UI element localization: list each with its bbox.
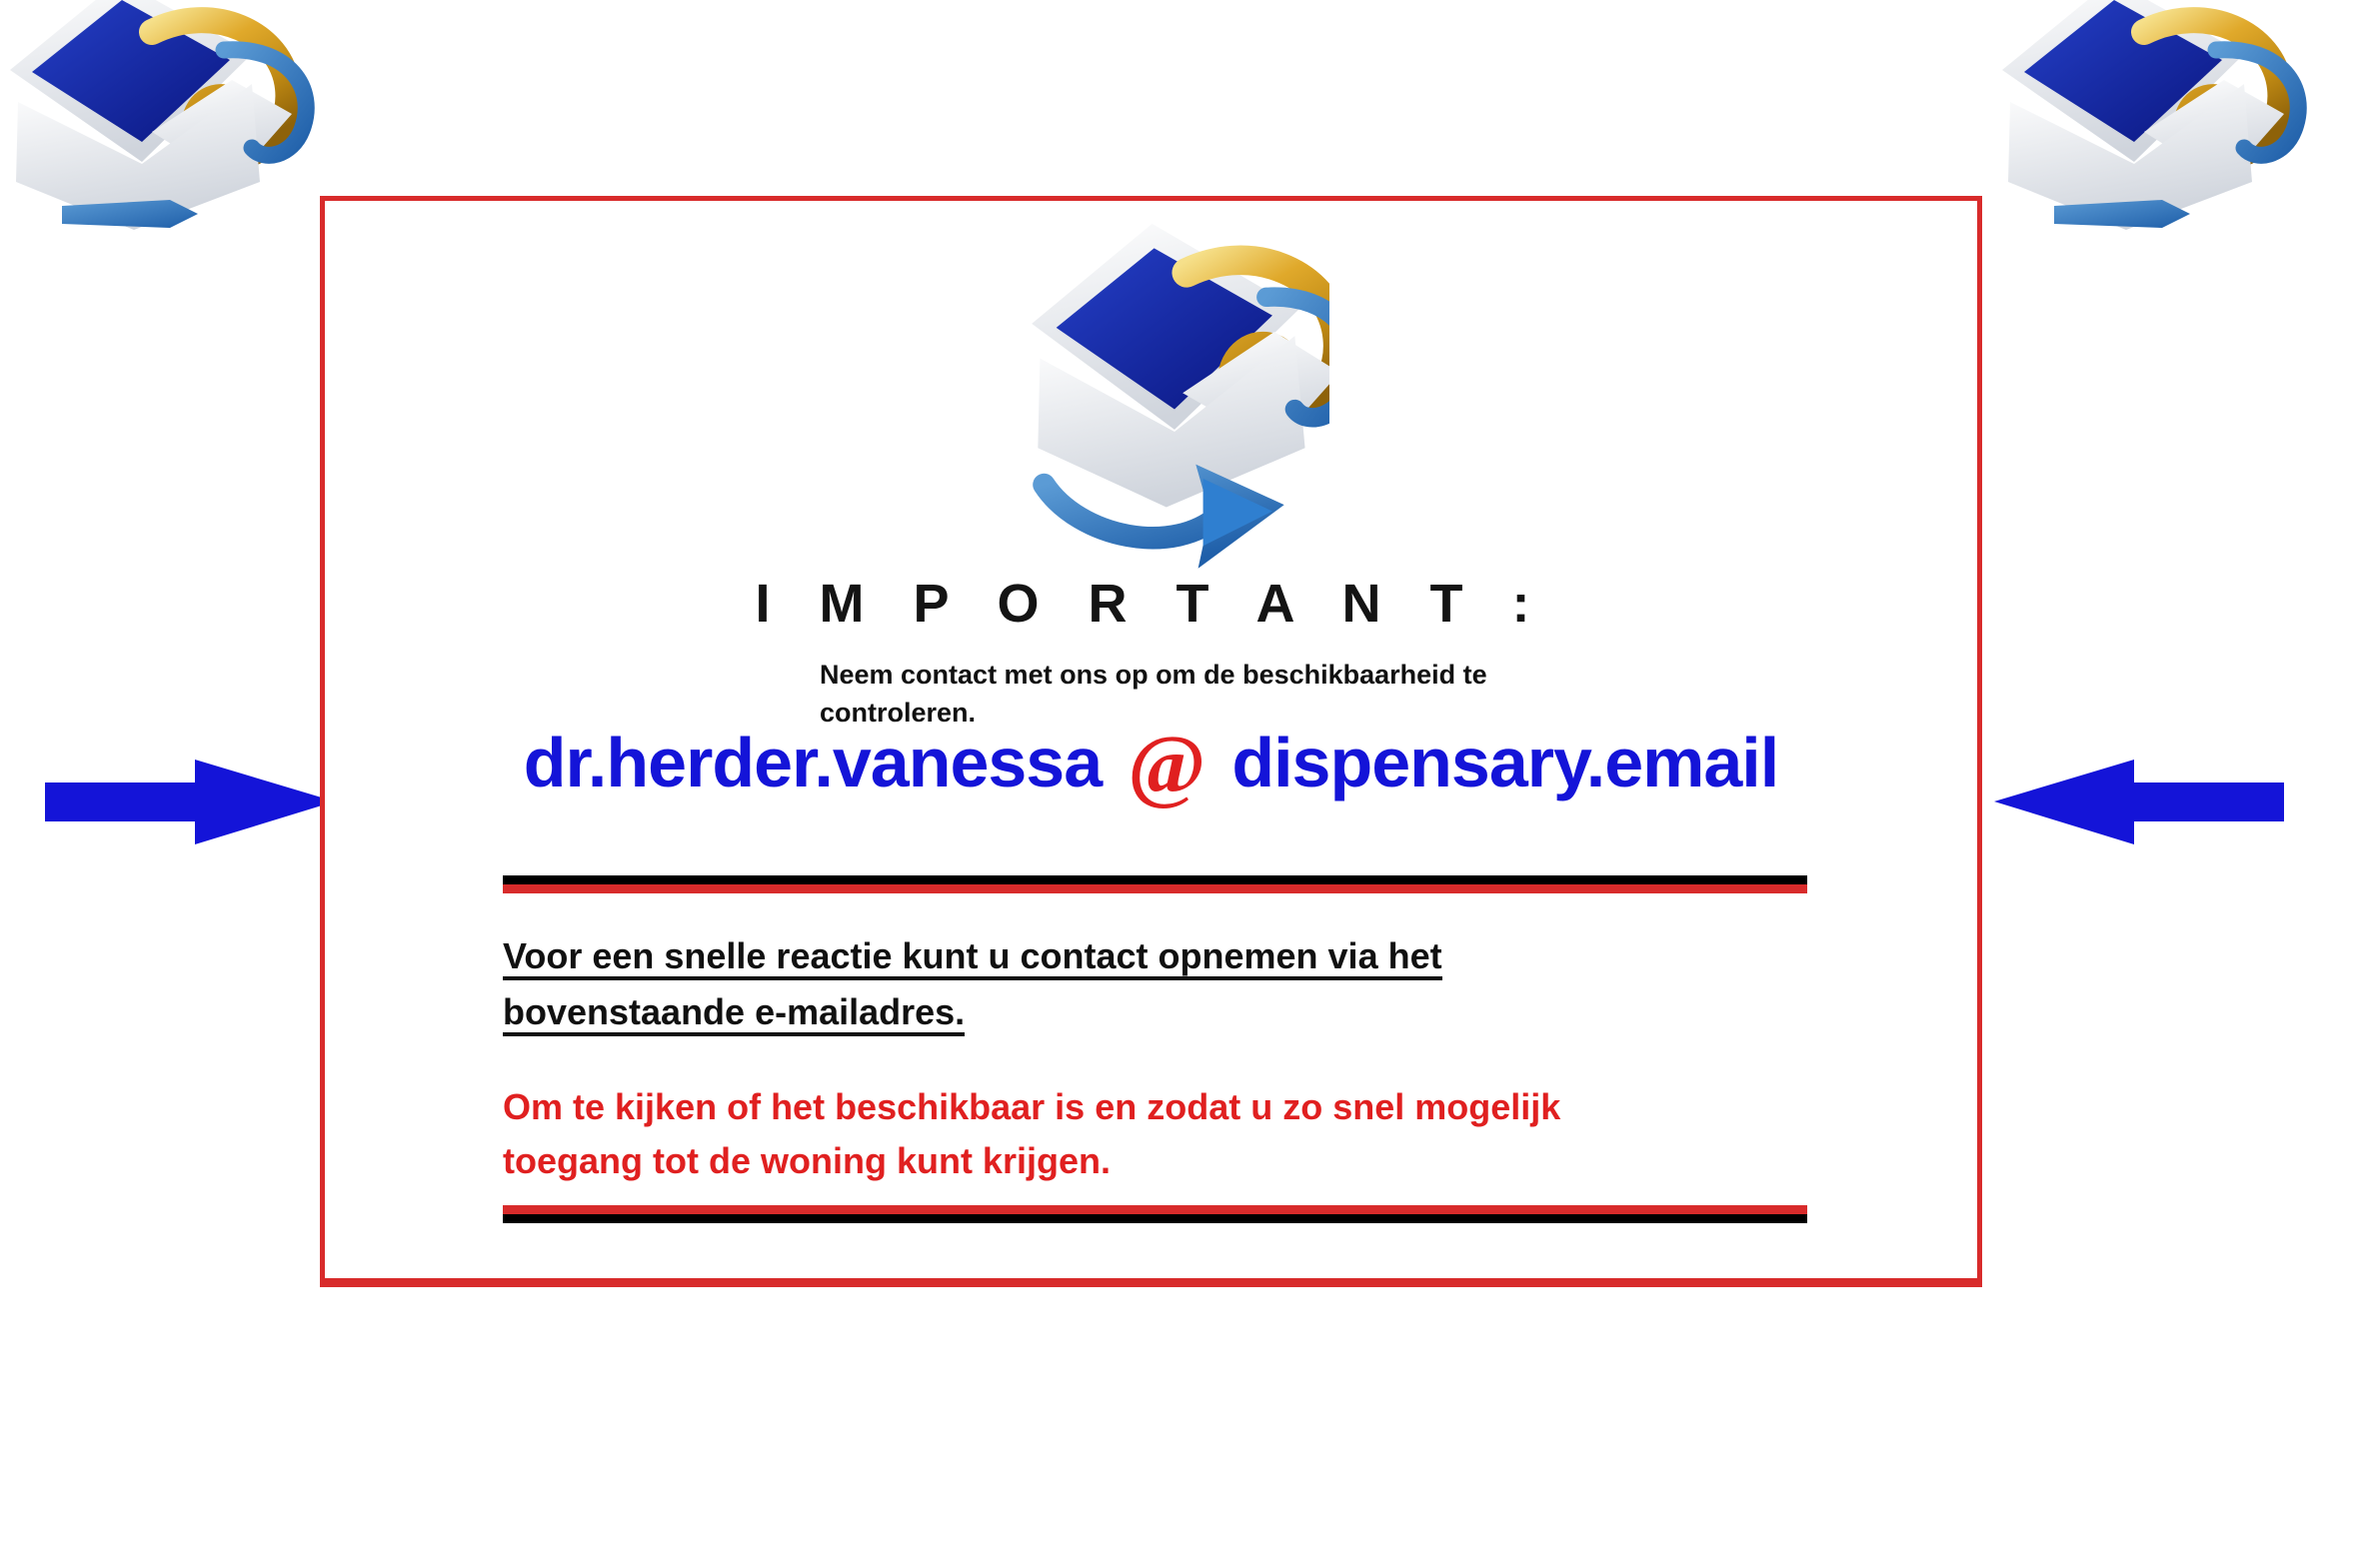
availability-paragraph: Om te kijken of het beschikbaar is en zo…: [503, 1080, 1662, 1188]
availability-subheading: Neem contact met ons op om de beschikbaa…: [820, 656, 1639, 733]
center-mail-graphic: [1010, 210, 1329, 570]
important-heading: I M P O R T A N T :: [325, 573, 1977, 635]
divider-bottom-black-bar: [503, 1214, 1807, 1223]
quick-response-paragraph: Voor een snelle reactie kunt u contact o…: [503, 928, 1642, 1040]
email-domain-part[interactable]: dispensary.email: [1231, 728, 1778, 797]
divider-bottom: [503, 1205, 1807, 1223]
corner-mail-graphic-right: [1984, 0, 2380, 230]
email-address-row[interactable]: dr.herder.vanessa @ dispensary.email: [325, 728, 1977, 799]
at-symbol-icon: @: [1128, 730, 1205, 801]
divider-bottom-red-bar: [503, 1205, 1807, 1214]
divider-top-black-bar: [503, 875, 1807, 884]
divider-top-red-bar: [503, 884, 1807, 893]
blue-left-arrow-icon-right: [1994, 755, 2284, 849]
quick-response-text: Voor een snelle reactie kunt u contact o…: [503, 935, 1442, 1036]
email-local-part[interactable]: dr.herder.vanessa: [524, 728, 1102, 797]
flyer-frame: I M P O R T A N T : Neem contact met ons…: [320, 196, 1982, 1287]
divider-top: [503, 875, 1807, 893]
blue-right-arrow-icon-left: [45, 755, 335, 849]
